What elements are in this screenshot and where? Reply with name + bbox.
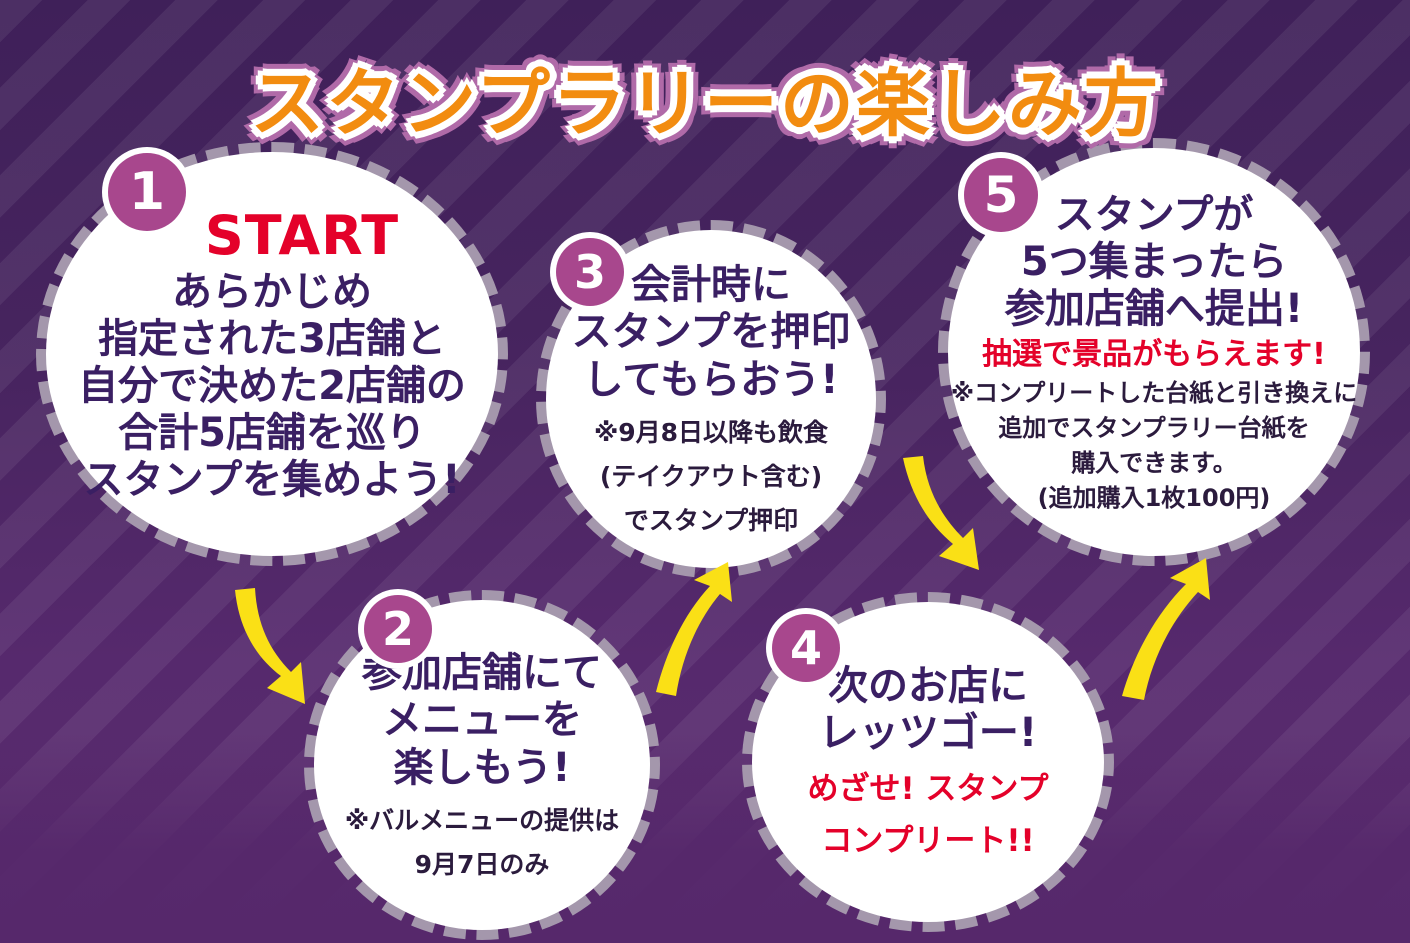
step-3-note-1: ※9月8日以降も飲食 bbox=[594, 418, 828, 448]
step-1-heading: START bbox=[205, 204, 399, 267]
page-title-container: スタンプラリーの楽しみ方 bbox=[0, 44, 1410, 151]
step-5-line-2: 5つ集まったら bbox=[1021, 240, 1287, 285]
step-4-line-2: レッツゴー! bbox=[819, 711, 1037, 756]
step-5-number-badge: 5 bbox=[964, 158, 1038, 232]
arrow-step2-to-step3-icon bbox=[632, 552, 772, 712]
step-3-note-3: でスタンプ押印 bbox=[624, 506, 798, 536]
step-5-line-3: 参加店舗へ提出! bbox=[1005, 287, 1303, 332]
page-title: スタンプラリーの楽しみ方 bbox=[250, 44, 1160, 151]
step-2-number-badge: 2 bbox=[364, 595, 432, 663]
step-4-red-line-2: コンプリート!! bbox=[821, 823, 1034, 860]
step-5-note-4: (追加購入1枚100円) bbox=[1038, 484, 1271, 513]
step-2-note-2: 9月7日のみ bbox=[415, 850, 550, 880]
step-1-number-badge: 1 bbox=[108, 153, 186, 231]
step-1-line-2: 指定された3店舗と bbox=[98, 317, 446, 362]
arrow-step3-to-step4-icon bbox=[885, 438, 1035, 588]
step-3-note-2: (テイクアウト含む) bbox=[600, 462, 822, 492]
stamp-rally-infographic: スタンプラリーの楽しみ方 START あらかじめ 指定された3店舗と 自分で決め… bbox=[0, 0, 1410, 943]
step-1-line-3: 自分で決めた2店舗の bbox=[78, 364, 466, 409]
step-2-line-2: メニューを bbox=[382, 698, 582, 743]
arrow-step1-to-step2-icon bbox=[205, 572, 355, 722]
step-2-line-3: 楽しもう! bbox=[393, 746, 570, 791]
arrow-step4-to-step5-icon bbox=[1112, 548, 1252, 708]
step-5-red-line-1: 抽選で景品がもらえます! bbox=[982, 338, 1326, 372]
bottom-gradient-overlay bbox=[0, 733, 1410, 943]
step-1-line-1: あらかじめ bbox=[172, 270, 372, 315]
step-4-line-1: 次のお店に bbox=[828, 664, 1028, 709]
step-1-line-5: スタンプを集めよう! bbox=[83, 458, 460, 503]
step-5-line-1: スタンプが bbox=[1055, 193, 1254, 238]
step-2-note-1: ※バルメニューの提供は bbox=[345, 806, 619, 836]
step-4-red-line-1: めざせ! スタンプ bbox=[808, 771, 1049, 808]
step-5-note-3: 購入できます。 bbox=[1071, 449, 1237, 478]
step-3-line-3: してもらおう! bbox=[583, 358, 838, 403]
step-3-line-1: 会計時に bbox=[631, 263, 791, 308]
step-2-circle: 参加店舗にて メニューを 楽しもう! ※バルメニューの提供は 9月7日のみ bbox=[314, 600, 650, 930]
step-1-line-4: 合計5店舗を巡り bbox=[118, 411, 426, 456]
step-4-number-badge: 4 bbox=[772, 614, 840, 682]
step-5-note-2: 追加でスタンプラリー台紙を bbox=[998, 414, 1309, 443]
step-5-note-1: ※コンプリートした台紙と引き換えに bbox=[951, 379, 1358, 408]
step-3-line-2: スタンプを押印 bbox=[572, 310, 851, 355]
step-3-number-badge: 3 bbox=[556, 238, 624, 306]
